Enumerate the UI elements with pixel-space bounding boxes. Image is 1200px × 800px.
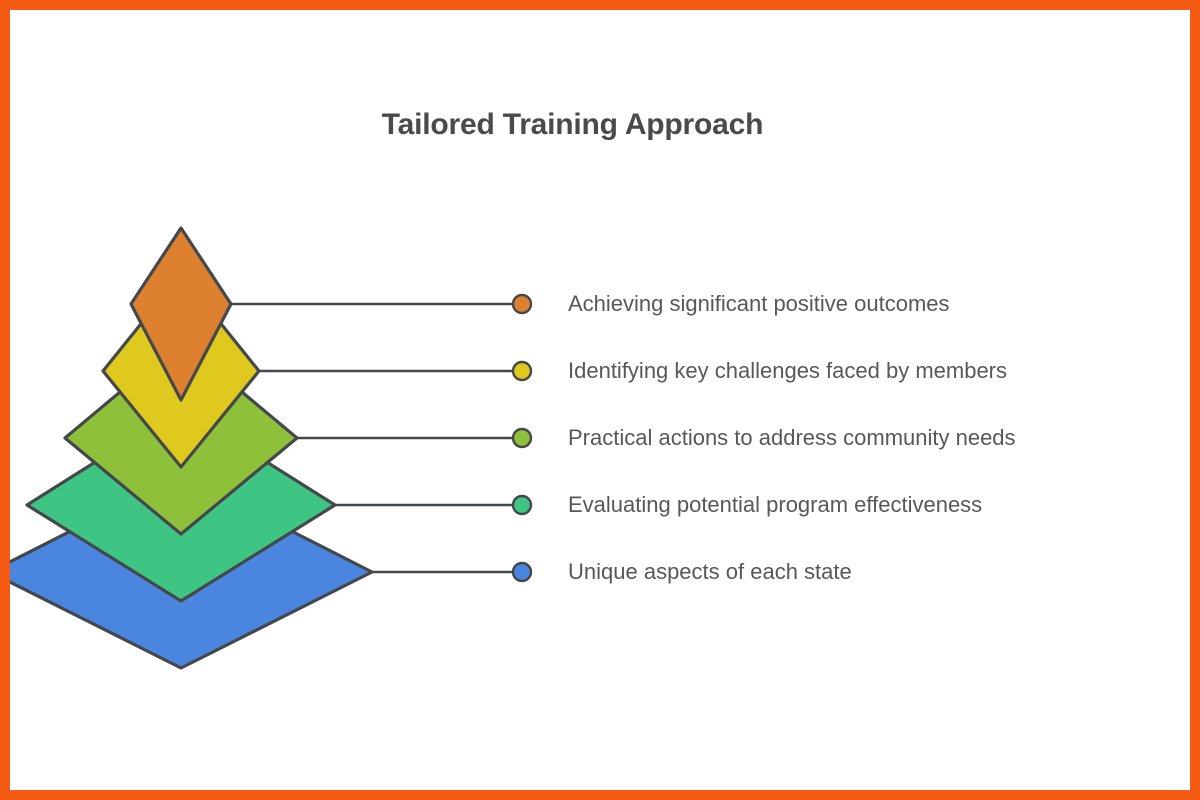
leader-dot-2[interactable]	[513, 362, 531, 380]
pyramid-label-5: Unique aspects of each state	[568, 561, 852, 583]
pyramid-label-3: Practical actions to address community n…	[568, 427, 1016, 449]
pyramid-diagram	[0, 0, 1200, 800]
pyramid-label-1: Achieving significant positive outcomes	[568, 293, 950, 315]
leader-dot-4[interactable]	[513, 496, 531, 514]
pyramid-label-4: Evaluating potential program effectivene…	[568, 494, 982, 516]
pyramid-label-2: Identifying key challenges faced by memb…	[568, 360, 1007, 382]
leader-dot-1[interactable]	[513, 295, 531, 313]
infographic-canvas: Tailored Training Approach Achieving sig…	[0, 0, 1200, 800]
leader-dot-5[interactable]	[513, 563, 531, 581]
leader-dot-3[interactable]	[513, 429, 531, 447]
